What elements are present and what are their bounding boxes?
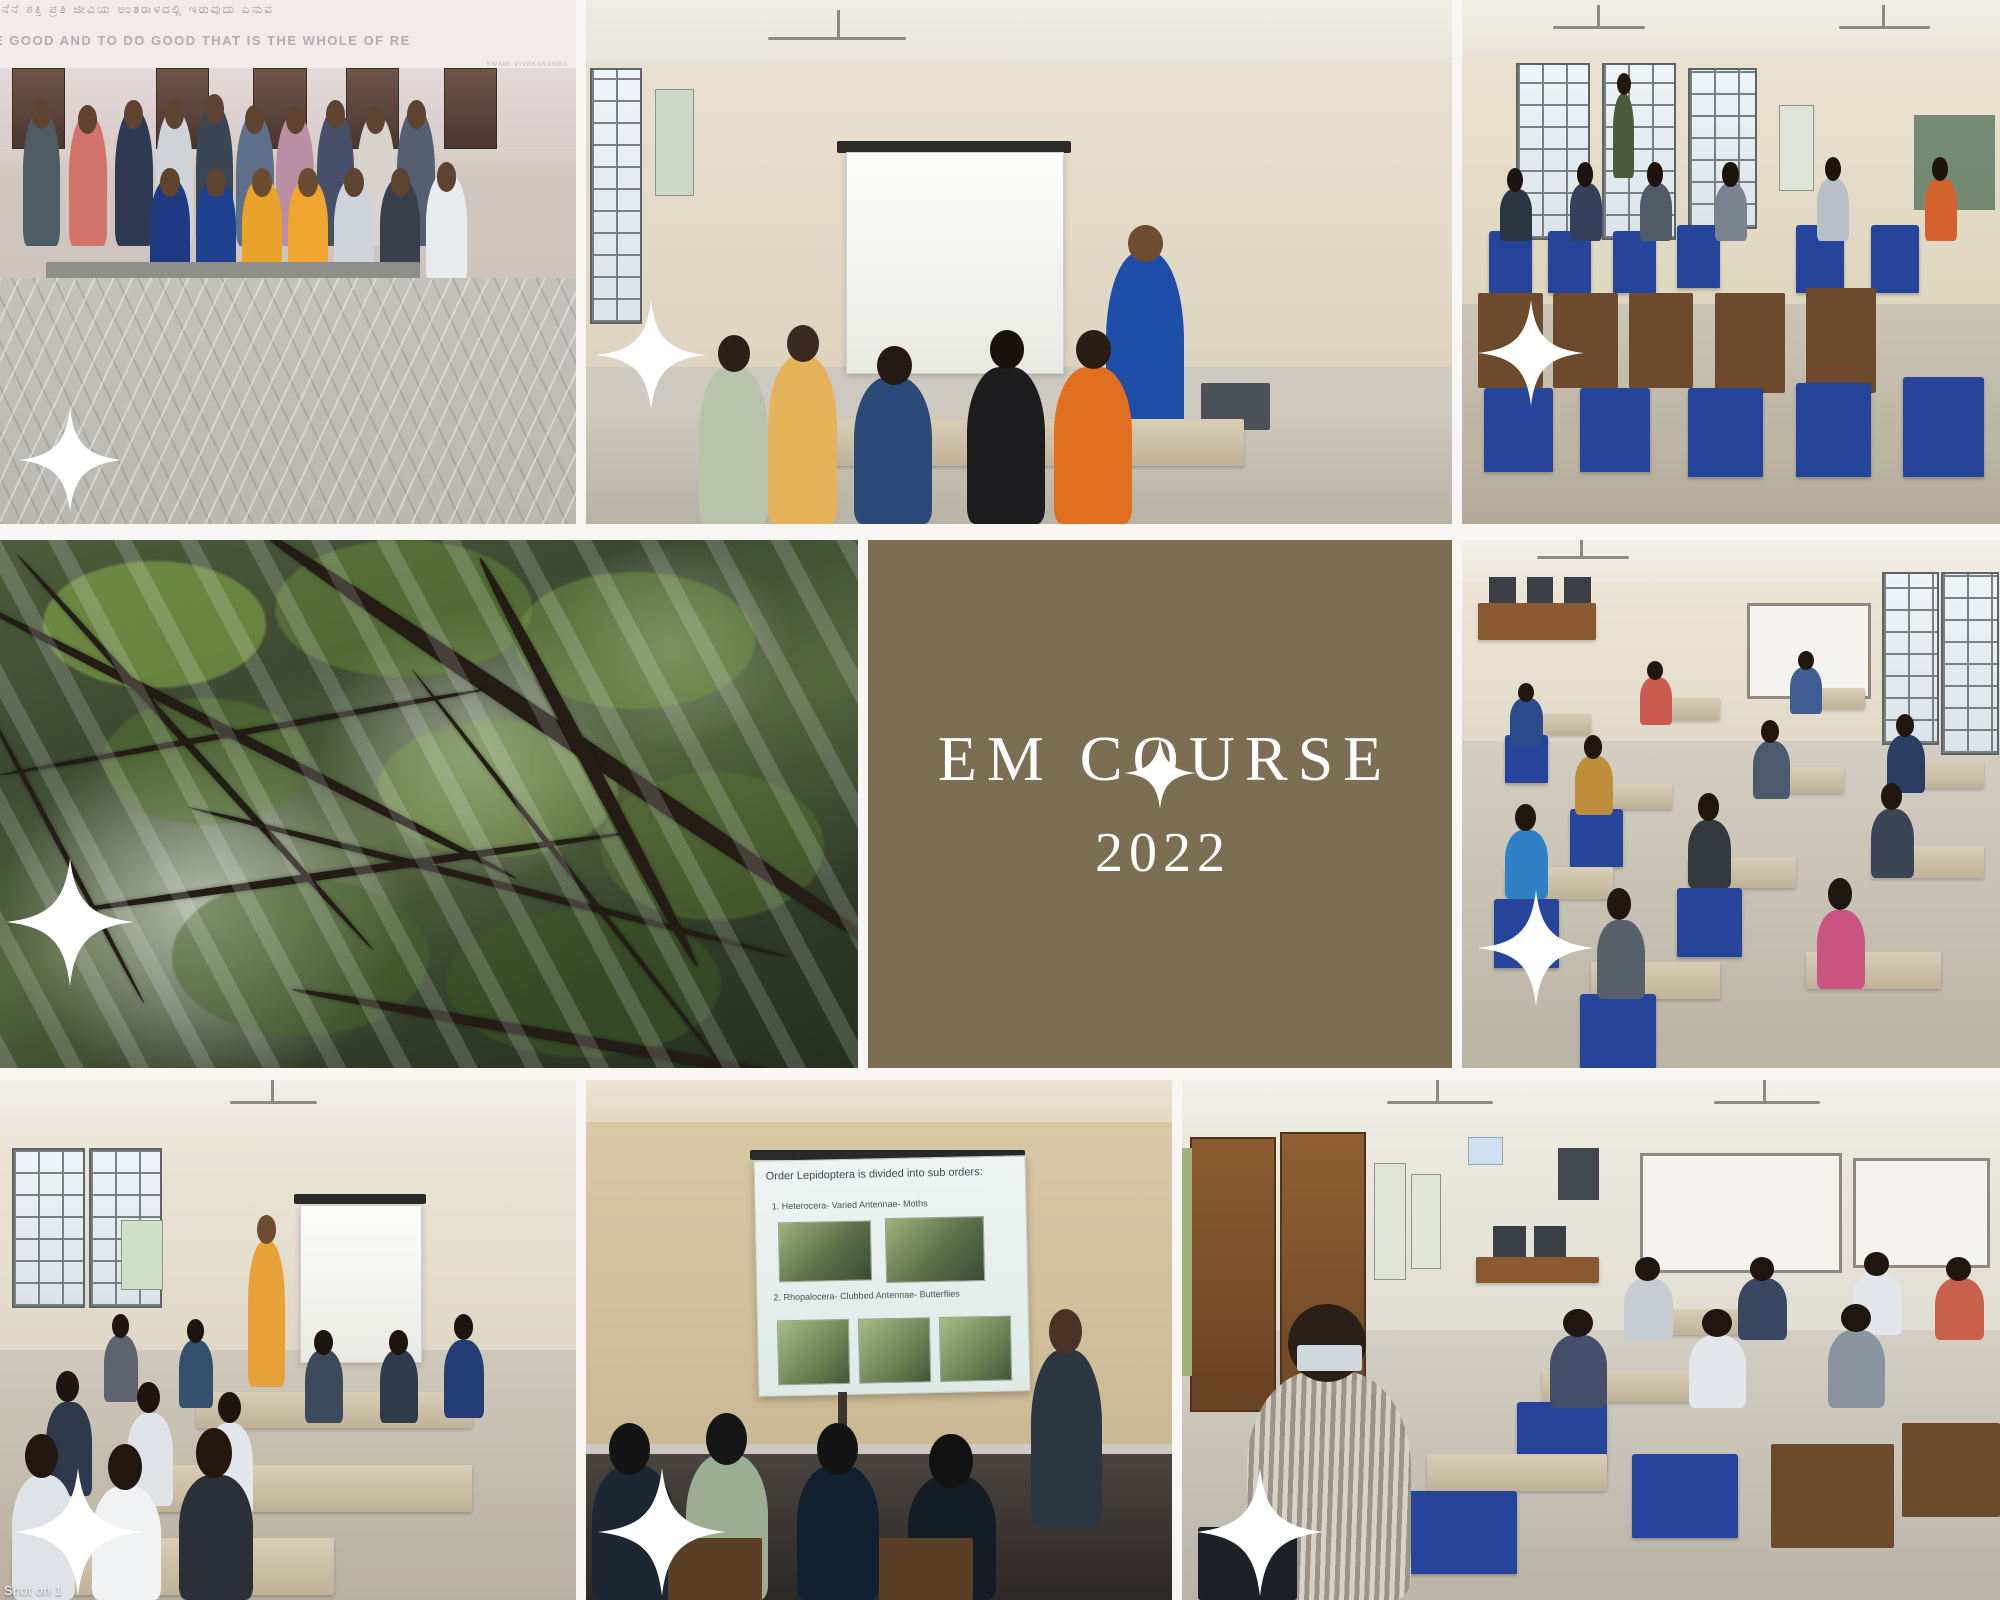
attendee bbox=[592, 1465, 674, 1600]
attendee bbox=[1624, 1278, 1673, 1340]
paved-ground bbox=[0, 278, 576, 524]
attendee bbox=[1925, 178, 1957, 241]
person-head bbox=[165, 100, 184, 129]
attendee-head bbox=[817, 1423, 858, 1475]
attendee bbox=[1715, 183, 1747, 241]
chair bbox=[1796, 383, 1871, 477]
person-head bbox=[344, 168, 364, 197]
computer-desk bbox=[1476, 1257, 1599, 1283]
attendee-head bbox=[112, 1314, 129, 1338]
slide-point-1: 1. Heterocera- Varied Antennae- Moths bbox=[772, 1198, 928, 1211]
attendee bbox=[444, 1340, 484, 1418]
chair bbox=[1677, 225, 1720, 288]
person-head bbox=[286, 105, 305, 134]
attendee bbox=[1753, 741, 1791, 799]
attendee bbox=[967, 367, 1045, 524]
attendee-head bbox=[877, 346, 912, 385]
slide-point-2: 2. Rhopalocera- Clubbed Antennae- Butter… bbox=[773, 1289, 959, 1303]
attendee bbox=[1575, 756, 1613, 814]
photo-tile-open-hall-session bbox=[1182, 1080, 2000, 1600]
butterfly-image bbox=[938, 1316, 1011, 1383]
attendee bbox=[1640, 183, 1672, 241]
wooden-chair bbox=[1478, 293, 1543, 387]
collage-year: 2022 bbox=[1089, 825, 1231, 881]
computer-desk bbox=[1478, 603, 1596, 640]
window bbox=[12, 1148, 85, 1308]
attendee-head bbox=[187, 1319, 204, 1343]
attendee bbox=[1550, 1335, 1607, 1408]
wooden-chair bbox=[1771, 1444, 1894, 1548]
attendee-head bbox=[706, 1413, 747, 1465]
attendee bbox=[1935, 1278, 1984, 1340]
fan-rod bbox=[1580, 540, 1583, 556]
attendee-head bbox=[1841, 1304, 1870, 1332]
photo-tile-lecture-hall-blue-chairs bbox=[1462, 0, 2000, 524]
exit-sign bbox=[1468, 1137, 1503, 1165]
attendee-head bbox=[1563, 1309, 1592, 1337]
wooden-chair bbox=[668, 1538, 762, 1600]
fan-rod bbox=[271, 1080, 274, 1101]
person-head bbox=[391, 168, 411, 197]
attendee-head bbox=[787, 325, 819, 362]
sun-rays bbox=[0, 540, 858, 1068]
facade-door bbox=[444, 68, 498, 149]
attendee bbox=[1817, 178, 1849, 241]
wooden-chair bbox=[1902, 1423, 2000, 1517]
moth-image bbox=[885, 1216, 985, 1283]
photo-tile-forest-canopy bbox=[0, 540, 858, 1068]
attendee bbox=[92, 1486, 161, 1600]
chair bbox=[1494, 899, 1559, 968]
attendee bbox=[1790, 667, 1822, 715]
ceiling-fan bbox=[1537, 556, 1628, 559]
person-head bbox=[407, 100, 426, 129]
wooden-door bbox=[1190, 1137, 1276, 1411]
chair bbox=[1580, 994, 1655, 1068]
classroom-projector-image bbox=[586, 0, 1452, 524]
monitor bbox=[1564, 577, 1591, 603]
wooden-chair bbox=[1715, 293, 1785, 393]
wall bbox=[0, 1132, 576, 1361]
attendee-head bbox=[929, 1434, 972, 1489]
monitor bbox=[1534, 1226, 1567, 1257]
projection-screen-bar bbox=[294, 1194, 426, 1203]
classroom-speaker-image bbox=[0, 1080, 576, 1600]
attendee-head bbox=[108, 1444, 141, 1490]
window bbox=[590, 68, 642, 324]
projection-screen: Order Lepidoptera is divided into sub or… bbox=[753, 1155, 1029, 1397]
attendee-head bbox=[218, 1392, 241, 1423]
banner-english-text: E GOOD AND TO DO GOOD THAT IS THE WHOLE … bbox=[0, 33, 576, 48]
window bbox=[1941, 572, 1999, 756]
chair bbox=[1403, 1491, 1518, 1574]
attendee-head bbox=[1946, 1257, 1971, 1281]
notice-board bbox=[121, 1220, 163, 1290]
person-head bbox=[298, 168, 318, 197]
ceiling-fan bbox=[1714, 1101, 1820, 1104]
attendee-head bbox=[1722, 162, 1738, 186]
wooden-chair bbox=[879, 1538, 973, 1600]
attendee bbox=[305, 1350, 342, 1423]
attendee-head bbox=[314, 1330, 332, 1355]
institute-banner: ನೆನೆ ಶಕ್ತಿ ಪ್ರತಿ ಜೀವಿಯ ಅಂತರಾಳದಲ್ಲಿ ಇರುವು… bbox=[0, 0, 576, 70]
attendee-head bbox=[1702, 1309, 1731, 1337]
chair bbox=[1632, 1454, 1738, 1537]
attendee bbox=[797, 1465, 879, 1600]
photo-collage: ನೆನೆ ಶಕ್ತಿ ಪ್ರತಿ ಜೀವಿಯ ಅಂತರಾಳದಲ್ಲಿ ಇರುವು… bbox=[0, 0, 2000, 1600]
person-head bbox=[160, 168, 180, 197]
notice-board bbox=[1374, 1163, 1405, 1279]
attendee-head bbox=[1828, 878, 1852, 910]
attendee bbox=[1817, 910, 1865, 989]
attendee-head bbox=[1798, 651, 1814, 670]
attendee bbox=[1689, 1335, 1746, 1408]
monitor bbox=[1493, 1226, 1526, 1257]
attendee-head bbox=[990, 330, 1025, 369]
attendee bbox=[380, 1350, 417, 1423]
attendee bbox=[1738, 1278, 1787, 1340]
chair bbox=[1688, 388, 1763, 477]
person-head bbox=[205, 94, 224, 123]
attendee bbox=[104, 1335, 139, 1403]
monitor bbox=[1527, 577, 1554, 603]
attendee bbox=[1828, 1330, 1885, 1408]
attendee-head bbox=[1647, 162, 1663, 186]
attendee bbox=[1570, 183, 1602, 241]
fan-rod bbox=[1436, 1080, 1439, 1101]
attendee-head bbox=[1584, 735, 1602, 758]
title-panel: EM COURSE 2022 bbox=[868, 540, 1452, 1068]
person-head bbox=[326, 100, 345, 129]
attendee bbox=[179, 1340, 214, 1408]
attendee bbox=[854, 377, 932, 524]
wooden-chair bbox=[1629, 293, 1694, 387]
chair bbox=[1677, 888, 1742, 957]
banner-kannada-text: ನೆನೆ ಶಕ್ತಿ ಪ್ರತಿ ಜೀವಿಯ ಅಂತರಾಳದಲ್ಲಿ ಇರುವು… bbox=[2, 2, 576, 17]
attendee-head bbox=[1076, 330, 1111, 369]
attendee-head bbox=[25, 1434, 57, 1478]
wooden-chair bbox=[1553, 293, 1618, 387]
person bbox=[115, 110, 152, 246]
attendee-head bbox=[718, 335, 750, 372]
doorway-greenery bbox=[1182, 1148, 1192, 1377]
projection-screen bbox=[846, 152, 1065, 374]
attendee bbox=[1510, 698, 1542, 746]
attendee-head bbox=[1577, 162, 1593, 186]
forest-canopy-image bbox=[0, 540, 858, 1068]
wall-speaker bbox=[1558, 1148, 1599, 1200]
foreground-attendee-arm bbox=[1198, 1527, 1296, 1600]
moth-image bbox=[777, 1220, 872, 1282]
monitor bbox=[1489, 577, 1516, 603]
attendee-head bbox=[1635, 1257, 1660, 1281]
notice-board bbox=[655, 89, 693, 196]
fan-rod bbox=[1882, 5, 1885, 26]
butterfly-image bbox=[777, 1319, 850, 1386]
wooden-chair bbox=[1806, 288, 1876, 393]
attendee bbox=[1871, 809, 1914, 878]
attendee bbox=[1640, 677, 1672, 725]
attendee bbox=[12, 1475, 75, 1600]
attendee bbox=[768, 356, 837, 524]
attendee-head bbox=[1825, 157, 1841, 181]
chair bbox=[1871, 225, 1919, 293]
butterfly-image bbox=[858, 1317, 931, 1384]
whiteboard bbox=[1640, 1153, 1842, 1273]
desk bbox=[1427, 1454, 1607, 1490]
presenter bbox=[1031, 1350, 1101, 1527]
fan-rod bbox=[837, 10, 840, 36]
standing-person bbox=[1613, 94, 1635, 178]
person-head bbox=[32, 100, 51, 129]
attendee-head bbox=[389, 1330, 407, 1355]
attendee-head bbox=[1761, 720, 1779, 743]
lecture-hall-image bbox=[1462, 0, 2000, 524]
chair bbox=[1903, 377, 1984, 477]
ceiling-fan bbox=[1387, 1101, 1493, 1104]
photo-tile-group-photo: ನೆನೆ ಶಕ್ತಿ ಪ್ರತಿ ಜೀವಿಯ ಅಂತರಾಳದಲ್ಲಿ ಇರುವು… bbox=[0, 0, 576, 524]
chair bbox=[1580, 388, 1650, 472]
camera-watermark: Shot on 1 bbox=[4, 1583, 62, 1598]
attendee-head bbox=[137, 1382, 160, 1413]
lepidoptera-lecture-image: Order Lepidoptera is divided into sub or… bbox=[586, 1080, 1172, 1600]
chair bbox=[1484, 388, 1554, 472]
person-head bbox=[206, 168, 226, 197]
ceiling-fan bbox=[230, 1101, 316, 1104]
attendee bbox=[1500, 189, 1532, 241]
notice-board bbox=[1779, 105, 1813, 191]
attendee bbox=[179, 1475, 254, 1600]
group-photo-image: ನೆನೆ ಶಕ್ತಿ ಪ್ರತಿ ಜೀವಿಯ ಅಂತರಾಳದಲ್ಲಿ ಇರುವು… bbox=[0, 0, 576, 524]
attendee-head bbox=[1864, 1252, 1889, 1276]
attendee bbox=[1688, 820, 1731, 889]
ceiling-fan bbox=[1553, 26, 1644, 29]
fan-rod bbox=[1763, 1080, 1766, 1101]
hall-spaced-seating-image bbox=[1462, 540, 2000, 1068]
photo-tile-classroom-speaker-saffron: Shot on 1 bbox=[0, 1080, 576, 1600]
speaker-monk bbox=[248, 1241, 285, 1387]
photo-tile-lepidoptera-lecture: Order Lepidoptera is divided into sub or… bbox=[586, 1080, 1172, 1600]
ceiling-fan bbox=[768, 37, 907, 40]
ceiling-fan bbox=[1839, 26, 1930, 29]
attendee bbox=[1054, 367, 1132, 524]
person-head bbox=[252, 168, 272, 197]
attendee-head bbox=[1518, 683, 1534, 702]
attendee bbox=[1597, 920, 1645, 999]
attendee bbox=[699, 367, 768, 524]
notice-board bbox=[1411, 1174, 1441, 1270]
slide-title: Order Lepidoptera is divided into sub or… bbox=[765, 1166, 1019, 1183]
attendee-head bbox=[1698, 793, 1720, 820]
presenter-head bbox=[1049, 1309, 1082, 1354]
attendee-head bbox=[1750, 1257, 1775, 1281]
chair bbox=[1570, 809, 1624, 867]
collage-title: EM COURSE bbox=[928, 727, 1393, 791]
person bbox=[69, 115, 106, 246]
open-hall-session-image bbox=[1182, 1080, 2000, 1600]
fan-rod bbox=[1597, 5, 1600, 26]
speaker-head bbox=[1128, 225, 1163, 262]
photo-tile-classroom-projector bbox=[586, 0, 1452, 524]
photo-tile-hall-spaced-seating bbox=[1462, 540, 2000, 1068]
attendee-head bbox=[196, 1428, 232, 1477]
face-mask bbox=[1297, 1345, 1362, 1371]
person-head bbox=[437, 162, 457, 191]
person bbox=[23, 110, 60, 246]
attendee bbox=[1505, 830, 1548, 899]
